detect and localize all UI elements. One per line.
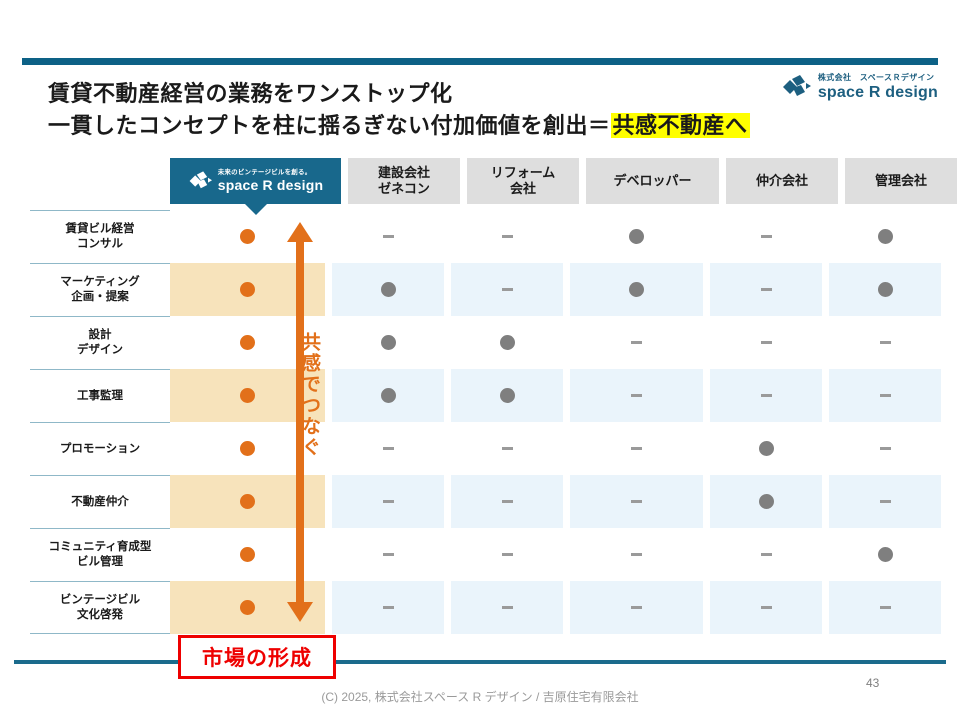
row-label: コミュニティ育成型ビル管理 [30, 528, 170, 581]
filled-circle-icon [240, 600, 255, 615]
matrix-cell [710, 528, 822, 581]
matrix-cell [170, 475, 325, 528]
column-header-line-1: デベロッパー [613, 173, 691, 189]
filled-circle-icon [240, 388, 255, 403]
matrix-header-row: 未来のビンテージビルを創る。 space R design 建設会社 ゼネコン … [30, 158, 930, 210]
row-label-line-1: プロモーション [60, 443, 140, 455]
row-label-text: プロモーション [60, 442, 140, 457]
matrix-cell [829, 263, 941, 316]
headline-line-2-prefix: 一貫したコンセプトを柱に揺るぎない付加価値を創出＝ [48, 113, 611, 138]
dash-icon [761, 553, 772, 556]
matrix-cell [451, 581, 563, 634]
matrix-cell [451, 422, 563, 475]
matrix-cell [332, 263, 444, 316]
slide-canvas: 賃貸不動産経営の業務をワンストップ化 一貫したコンセプトを柱に揺るぎない付加価値… [0, 0, 960, 720]
corporate-logo: 株式会社 スペースＲデザイン space R design [781, 72, 938, 102]
dash-icon [383, 606, 394, 609]
table-row: コミュニティ育成型ビル管理 [30, 528, 930, 581]
filled-circle-icon [381, 335, 396, 350]
capability-matrix: 未来のビンテージビルを創る。 space R design 建設会社 ゼネコン … [30, 158, 930, 634]
filled-circle-icon [240, 229, 255, 244]
footer-copyright: (C) 2025, 株式会社スペース R デザイン / 吉原住宅有限会社 [0, 688, 960, 705]
dash-icon [631, 606, 642, 609]
matrix-cell [332, 581, 444, 634]
matrix-cell [829, 528, 941, 581]
row-label-line-2: デザイン [77, 344, 123, 356]
dash-icon [880, 394, 891, 397]
page-title: 賃貸不動産経営の業務をワンストップ化 一貫したコンセプトを柱に揺るぎない付加価値… [48, 78, 748, 142]
corporate-logo-subtitle: 株式会社 スペースＲデザイン [818, 74, 938, 82]
row-label-text: コミュニティ育成型ビル管理 [49, 540, 152, 570]
matrix-cell [332, 475, 444, 528]
matrix-cell [451, 528, 563, 581]
matrix-cell [332, 210, 444, 263]
row-label-line-2: 文化啓発 [77, 609, 123, 621]
market-formation-callout: 市場の形成 [178, 635, 336, 679]
top-rule [22, 58, 938, 65]
row-label-text: ビンテージビル文化啓発 [60, 593, 140, 623]
matrix-cell [829, 475, 941, 528]
column-header-line-1: 仲介会社 [756, 173, 808, 189]
filled-circle-icon [878, 547, 893, 562]
row-label-text: マーケティング企画・提案 [60, 275, 140, 305]
brand-header-subtitle: 未来のビンテージビルを創る。 [218, 170, 312, 177]
table-row: マーケティング企画・提案 [30, 263, 930, 316]
row-label-line-1: 不動産仲介 [71, 496, 129, 508]
matrix-cell [332, 369, 444, 422]
matrix-cell [451, 369, 563, 422]
headline-line-2: 一貫したコンセプトを柱に揺るぎない付加価値を創出＝共感不動産へ [48, 110, 748, 142]
dash-icon [502, 606, 513, 609]
matrix-cell [570, 422, 703, 475]
row-label-text: 不動産仲介 [71, 495, 129, 510]
row-label: 賃貸ビル経営コンサル [30, 210, 170, 263]
matrix-cell [570, 210, 703, 263]
space-r-design-logo-icon [781, 72, 811, 102]
matrix-cell [170, 581, 325, 634]
table-row: 賃貸ビル経営コンサル [30, 210, 930, 263]
matrix-cell [570, 528, 703, 581]
column-header-management: 管理会社 [845, 158, 957, 204]
dash-icon [631, 500, 642, 503]
matrix-cell [570, 369, 703, 422]
column-header-reform: リフォーム 会社 [467, 158, 579, 204]
row-label-line-1: マーケティング [60, 276, 140, 288]
matrix-cell [332, 422, 444, 475]
dash-icon [631, 341, 642, 344]
matrix-cell [570, 316, 703, 369]
filled-circle-icon [240, 547, 255, 562]
filled-circle-icon [381, 282, 396, 297]
column-header-space-r-design: 未来のビンテージビルを創る。 space R design [170, 158, 341, 204]
matrix-cell [829, 210, 941, 263]
row-label: 不動産仲介 [30, 475, 170, 528]
row-label-line-1: 賃貸ビル経営 [66, 223, 135, 235]
dash-icon [383, 553, 394, 556]
matrix-cell [710, 422, 822, 475]
row-label-line-1: コミュニティ育成型 [49, 541, 152, 553]
table-row: ビンテージビル文化啓発 [30, 581, 930, 634]
row-label-text: 賃貸ビル経営コンサル [66, 222, 135, 252]
filled-circle-icon [878, 282, 893, 297]
filled-circle-icon [878, 229, 893, 244]
headline-line-1: 賃貸不動産経営の業務をワンストップ化 [48, 78, 748, 110]
matrix-cell [451, 210, 563, 263]
matrix-cell [710, 475, 822, 528]
column-header-line-2: 会社 [510, 181, 536, 196]
dash-icon [383, 500, 394, 503]
matrix-cell [451, 263, 563, 316]
row-label-line-1: 設計 [89, 329, 112, 341]
matrix-cell [170, 210, 325, 263]
row-label-text: 設計デザイン [77, 328, 123, 358]
brand-header-title: space R design [218, 178, 324, 192]
matrix-cell [451, 316, 563, 369]
column-header-line-2: ゼネコン [378, 181, 430, 196]
column-header-label: 建設会社 ゼネコン [378, 165, 430, 197]
corporate-logo-title: space R design [818, 85, 938, 101]
filled-circle-icon [500, 335, 515, 350]
page-number: 43 [866, 676, 879, 690]
table-row: 不動産仲介 [30, 475, 930, 528]
headline-highlight: 共感不動産へ [611, 113, 750, 138]
filled-circle-icon [759, 494, 774, 509]
dash-icon [880, 447, 891, 450]
filled-circle-icon [629, 229, 644, 244]
row-label-line-2: 企画・提案 [71, 291, 129, 303]
column-header-brand-text: 未来のビンテージビルを創る。 space R design [218, 170, 324, 193]
row-label-line-2: コンサル [77, 238, 123, 250]
matrix-body: 賃貸ビル経営コンサルマーケティング企画・提案設計デザイン工事監理プロモーション不… [30, 210, 930, 634]
corporate-logo-text: 株式会社 スペースＲデザイン space R design [818, 74, 938, 101]
matrix-cell [710, 263, 822, 316]
column-header-label: リフォーム 会社 [491, 165, 556, 197]
row-label: 設計デザイン [30, 316, 170, 369]
column-header-line-1: 建設会社 [378, 165, 430, 180]
row-label: ビンテージビル文化啓発 [30, 581, 170, 634]
column-header-developer: デベロッパー [586, 158, 719, 204]
matrix-cell [570, 475, 703, 528]
matrix-cell [710, 210, 822, 263]
row-label: 工事監理 [30, 369, 170, 422]
row-label-line-1: 工事監理 [77, 390, 123, 402]
space-r-design-logo-icon [188, 169, 212, 193]
matrix-cell [710, 581, 822, 634]
filled-circle-icon [240, 494, 255, 509]
dash-icon [761, 288, 772, 291]
dash-icon [761, 394, 772, 397]
filled-circle-icon [240, 335, 255, 350]
table-row: 設計デザイン [30, 316, 930, 369]
dash-icon [502, 447, 513, 450]
matrix-cell [829, 369, 941, 422]
dash-icon [502, 500, 513, 503]
filled-circle-icon [629, 282, 644, 297]
dash-icon [880, 606, 891, 609]
matrix-cell [170, 528, 325, 581]
filled-circle-icon [240, 282, 255, 297]
filled-circle-icon [500, 388, 515, 403]
dash-icon [880, 500, 891, 503]
dash-icon [383, 235, 394, 238]
matrix-cell [332, 528, 444, 581]
column-header-line-1: リフォーム [491, 165, 556, 180]
arrow-label: 共感でつなぐ [296, 332, 323, 458]
matrix-cell [829, 422, 941, 475]
dash-icon [880, 341, 891, 344]
row-label: マーケティング企画・提案 [30, 263, 170, 316]
matrix-cell [451, 475, 563, 528]
matrix-cell [710, 369, 822, 422]
dash-icon [631, 447, 642, 450]
dash-icon [502, 235, 513, 238]
dash-icon [761, 341, 772, 344]
dash-icon [761, 606, 772, 609]
row-label-line-2: ビル管理 [77, 556, 123, 568]
dash-icon [383, 447, 394, 450]
dash-icon [631, 553, 642, 556]
filled-circle-icon [240, 441, 255, 456]
matrix-cell [829, 316, 941, 369]
row-label-line-1: ビンテージビル [60, 594, 140, 606]
matrix-cell [170, 263, 325, 316]
dash-icon [502, 553, 513, 556]
table-row: プロモーション [30, 422, 930, 475]
dash-icon [631, 394, 642, 397]
dash-icon [761, 235, 772, 238]
matrix-cell [710, 316, 822, 369]
row-label: プロモーション [30, 422, 170, 475]
matrix-cell [332, 316, 444, 369]
bottom-rule [14, 660, 946, 664]
matrix-cell [570, 263, 703, 316]
column-header-line-1: 管理会社 [875, 173, 927, 189]
table-row: 工事監理 [30, 369, 930, 422]
column-header-construction: 建設会社 ゼネコン [348, 158, 460, 204]
column-header-brokerage: 仲介会社 [726, 158, 838, 204]
matrix-cell [829, 581, 941, 634]
dash-icon [502, 288, 513, 291]
filled-circle-icon [759, 441, 774, 456]
matrix-cell [570, 581, 703, 634]
row-label-text: 工事監理 [77, 389, 123, 404]
filled-circle-icon [381, 388, 396, 403]
